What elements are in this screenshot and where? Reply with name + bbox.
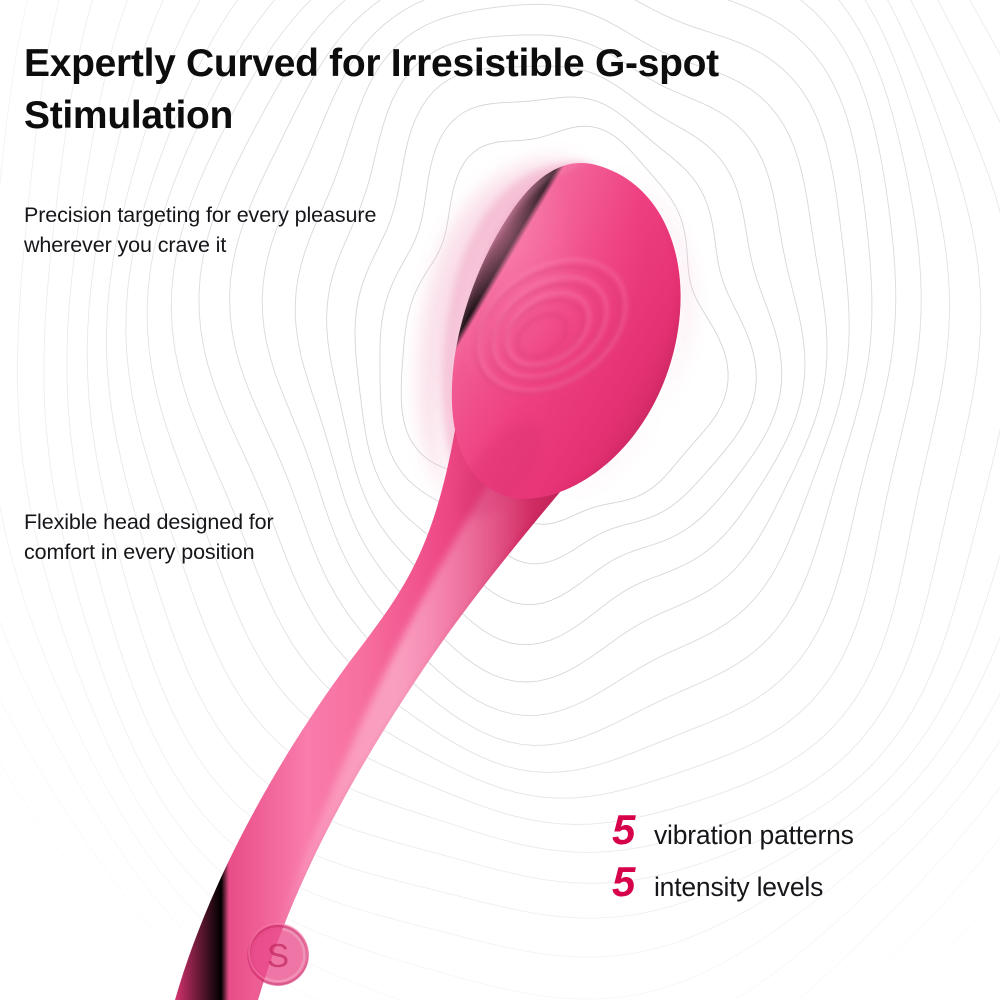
feature-label-vibration-patterns: vibration patterns bbox=[654, 820, 854, 851]
feature-description-precision: Precision targeting for every pleasure w… bbox=[24, 200, 494, 261]
feature-spec-vibration-patterns: 5 vibration patterns bbox=[612, 806, 982, 858]
ripple-ridges bbox=[453, 241, 644, 419]
power-button: S bbox=[247, 924, 309, 986]
feature-label-intensity-levels: intensity levels bbox=[654, 872, 823, 903]
feature-count-intensity-levels: 5 bbox=[612, 858, 652, 906]
feature-description-flexible-head: Flexible head designed for comfort in ev… bbox=[24, 507, 454, 568]
power-button-glyph: S bbox=[267, 937, 289, 974]
neck-shading bbox=[444, 408, 556, 531]
feature-spec-intensity-levels: 5 intensity levels bbox=[612, 858, 982, 910]
feature-count-vibration-patterns: 5 bbox=[612, 806, 652, 854]
product-feature-graphic: S Expertly Curved for Irresistible G-spo… bbox=[0, 0, 1000, 1000]
page-title: Expertly Curved for Irresistible G-spot … bbox=[24, 38, 894, 141]
feature-spec-list: 5 vibration patterns 5 intensity levels bbox=[612, 806, 982, 910]
